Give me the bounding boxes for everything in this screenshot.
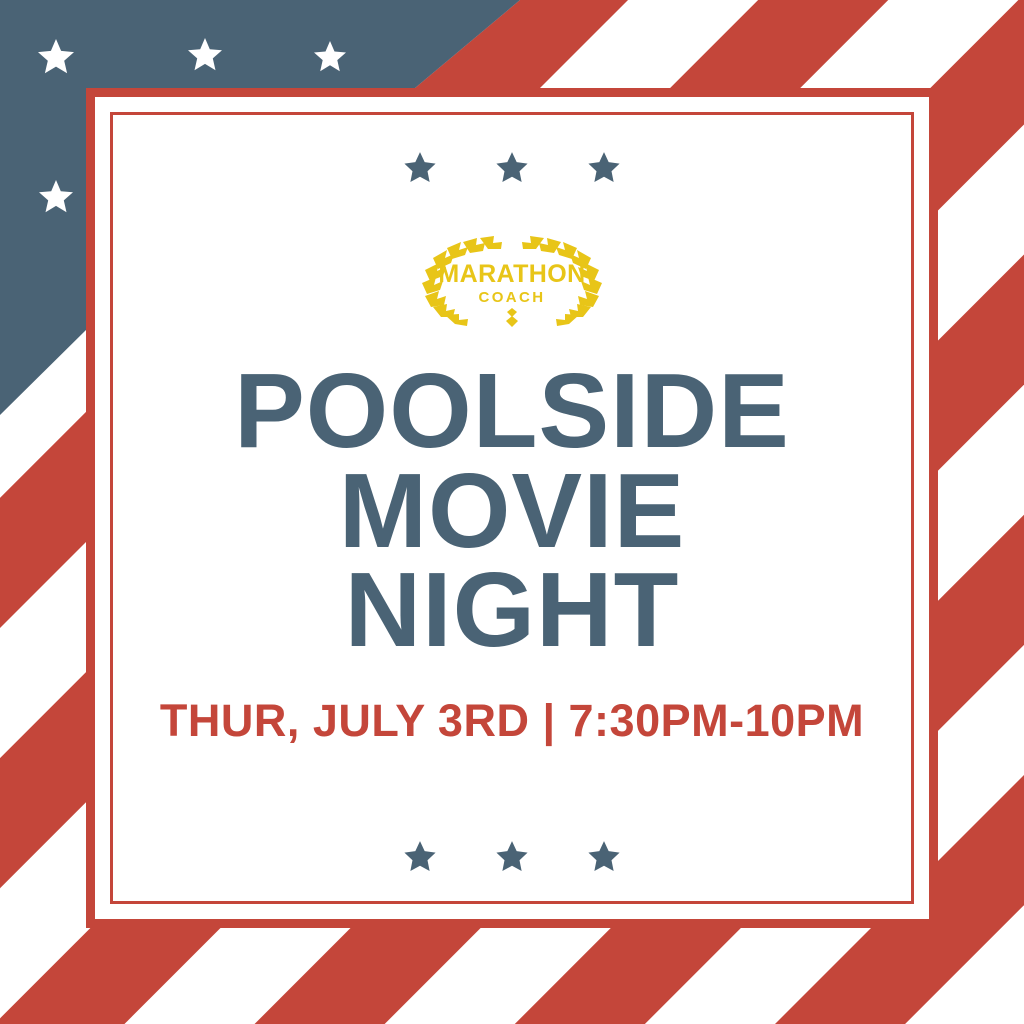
logo-primary-text: MARATHON xyxy=(438,260,585,288)
decor-star-row-bottom xyxy=(403,839,621,873)
star-icon xyxy=(403,839,437,873)
star-icon xyxy=(587,150,621,184)
headline-line-2: MOVIE xyxy=(234,462,790,562)
marathon-coach-logo-mark: MARATHON COACH xyxy=(407,220,617,328)
star-icon xyxy=(495,839,529,873)
poster-canvas: MARATHON COACH POOLSIDE MOVIE NIGHT THUR… xyxy=(0,0,1024,1024)
event-date-time: THUR, JULY 3RD | 7:30PM-10PM xyxy=(160,695,864,747)
star-icon xyxy=(403,150,437,184)
page-title: POOLSIDE MOVIE NIGHT xyxy=(234,362,790,661)
headline-line-1: POOLSIDE xyxy=(234,362,790,462)
headline-line-3: NIGHT xyxy=(234,561,790,661)
star-icon xyxy=(495,150,529,184)
decor-star-row-top xyxy=(403,150,621,184)
card-content: MARATHON COACH POOLSIDE MOVIE NIGHT THUR… xyxy=(110,112,914,904)
logo-secondary-text: COACH xyxy=(479,289,546,306)
star-icon xyxy=(587,839,621,873)
marathon-coach-logo: MARATHON COACH xyxy=(407,220,617,328)
